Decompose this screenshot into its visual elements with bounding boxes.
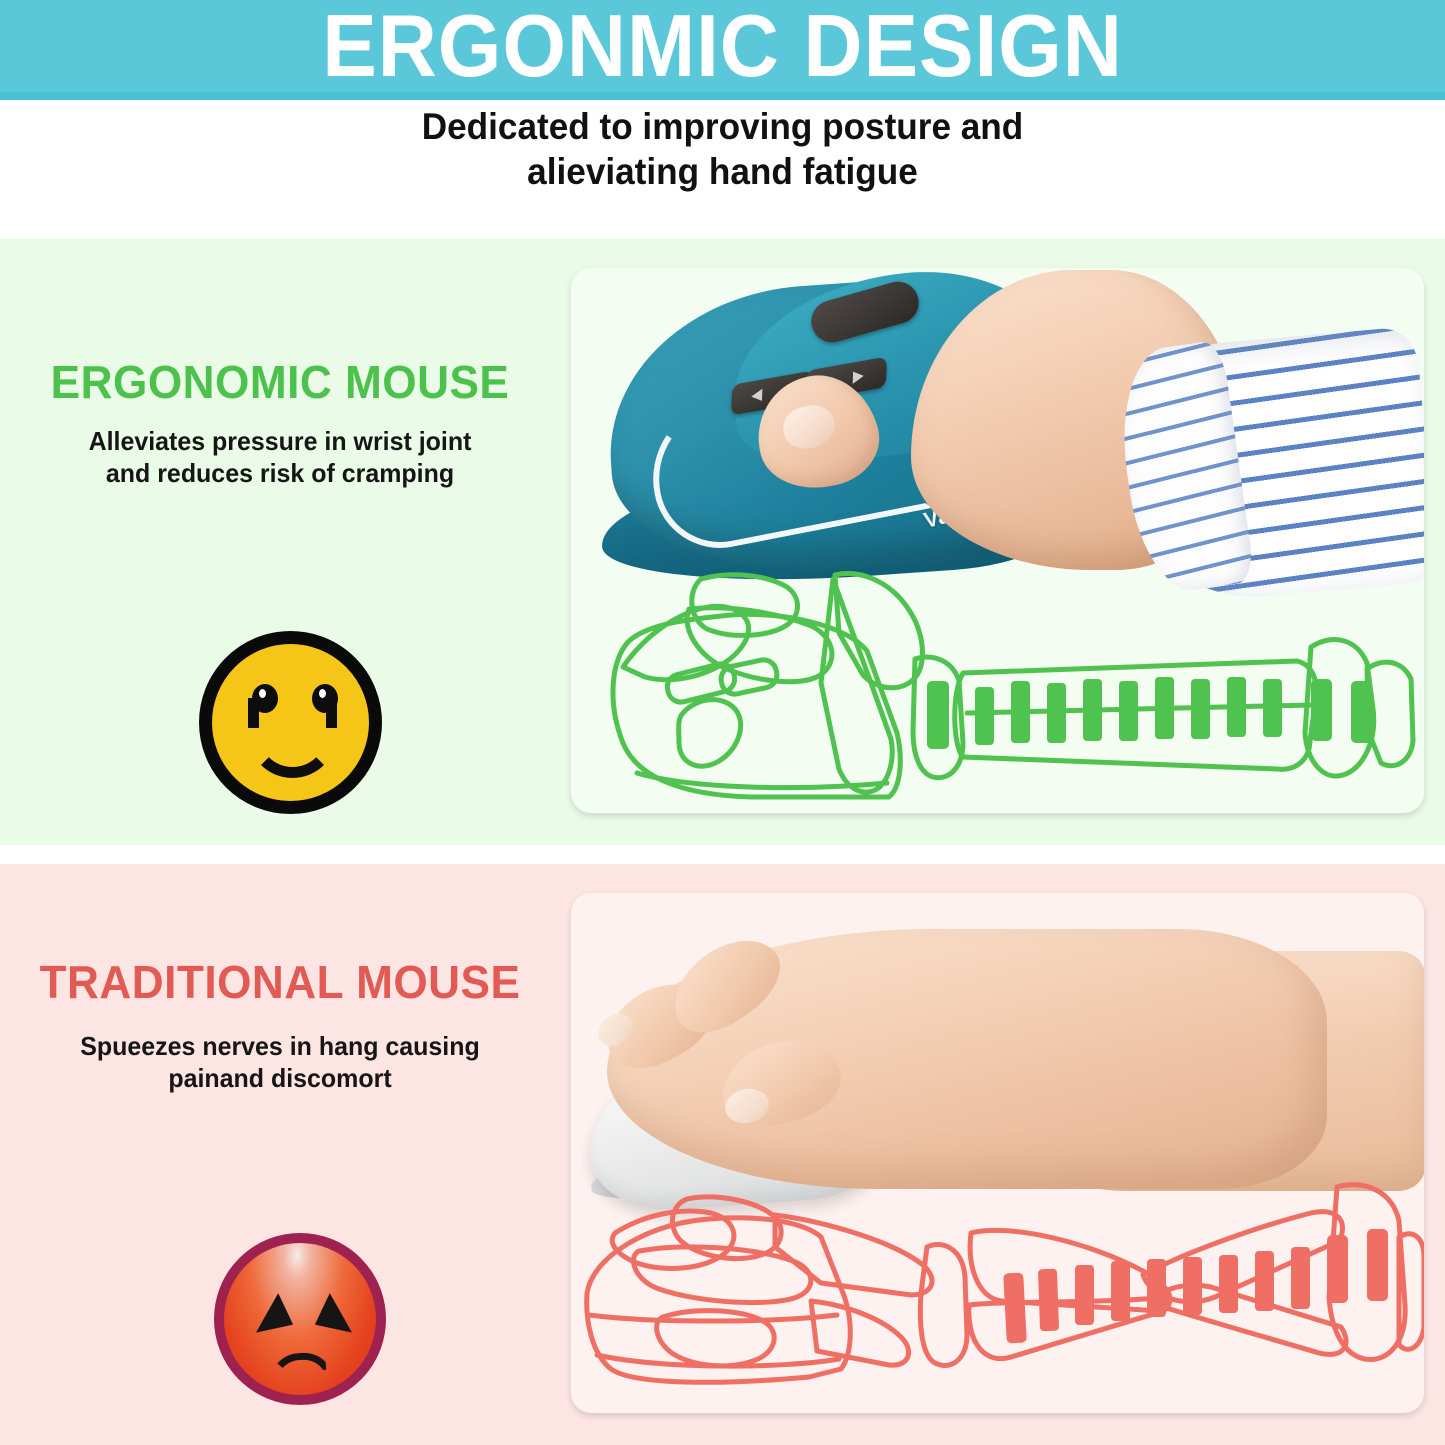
lineart-skeleton-neutral (571, 563, 1424, 813)
sad-frowning-face-icon (214, 1233, 386, 1405)
description-line-1: Alleviates pressure in wrist joint (11, 425, 549, 457)
sad-frown-icon (268, 1351, 334, 1385)
arrow-left-icon (751, 389, 762, 403)
sad-eye-left-icon (249, 1291, 293, 1332)
page-subtitle-line-1: Dedicated to improving posture and (36, 104, 1409, 149)
description-line-2: and reduces risk of cramping (11, 457, 549, 489)
page-subtitle-line-2: alieviating hand fatigue (36, 149, 1409, 194)
photo-card-ergonomic-mouse: Vassink (571, 268, 1424, 813)
happy-smile-icon (248, 716, 337, 778)
page-subtitle: Dedicated to improving posture and aliev… (36, 104, 1409, 194)
photo-card-traditional-mouse (571, 893, 1424, 1413)
smiley-happy-face-icon (199, 631, 382, 814)
section-heading-traditional: TRADITIONAL MOUSE (11, 955, 549, 1009)
description-line-2: painand discomort (11, 1062, 549, 1094)
section-heading-ergonomic: ERGONOMIC MOUSE (11, 355, 549, 409)
section-divider (0, 845, 1445, 864)
description-line-1: Spueezes nerves in hang causing (11, 1030, 549, 1062)
section-description-traditional: Spueezes nerves in hang causing painand … (11, 1030, 549, 1094)
lineart-skeleton-compressed (571, 1173, 1424, 1413)
page-title: ERGONMIC DESIGN (51, 0, 1395, 98)
arrow-right-icon (853, 370, 864, 384)
photo-hand-on-vertical-mouse: Vassink (571, 268, 1424, 578)
section-description-ergonomic: Alleviates pressure in wrist joint and r… (11, 425, 549, 489)
sad-eye-right-icon (315, 1291, 359, 1332)
